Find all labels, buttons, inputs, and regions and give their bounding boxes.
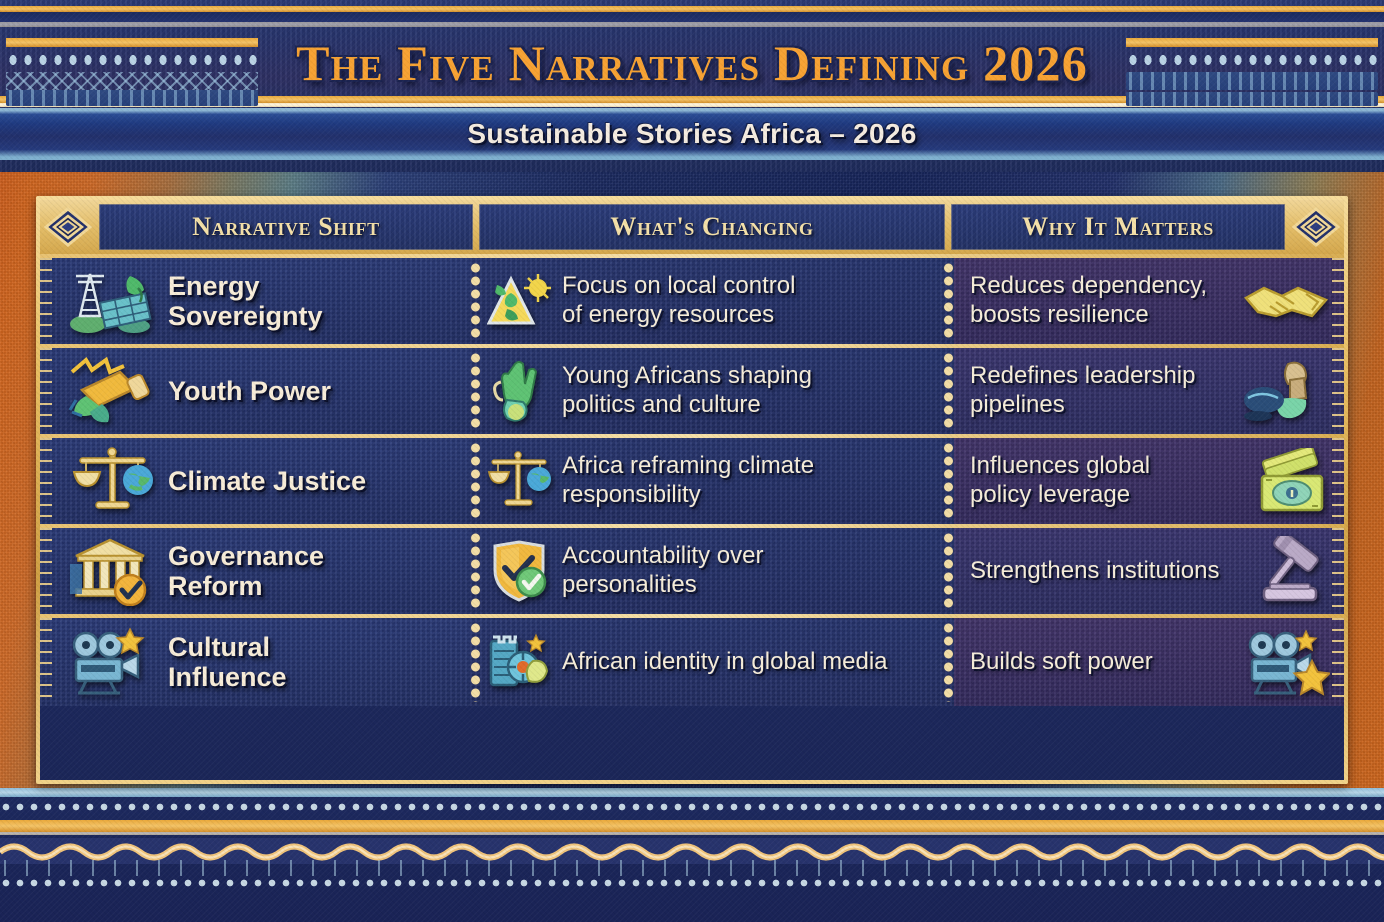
table-row: Cultural Influence [40, 614, 1344, 706]
column-divider [470, 442, 481, 520]
column-divider [943, 532, 954, 610]
column-header-narrative-shift: Narrative Shift [99, 204, 473, 250]
narrative-shift-label: Governance Reform [168, 541, 324, 601]
table-row: Youth Power [40, 344, 1344, 434]
institution-checkmark-icon [66, 534, 158, 608]
top-stripe-navy-1 [0, 12, 1384, 22]
row-zigzag-right [1332, 528, 1344, 614]
diamond-ornament-right-icon [1288, 204, 1344, 250]
infographic-poster: The Five Narratives Defining 2026 Sustai… [0, 0, 1384, 922]
row-zigzag-right [1332, 618, 1344, 706]
column-header-label: Narrative Shift [192, 212, 379, 242]
cell-narrative-shift: Energy Sovereignty [40, 258, 470, 344]
narrative-shift-label: Youth Power [168, 376, 331, 406]
subtitle-band: Sustainable Stories Africa – 2026 [0, 108, 1384, 160]
why-it-matters-label: Redefines leadership pipelines [970, 362, 1195, 420]
column-header-label: What's Changing [610, 212, 813, 242]
table-row: Governance Reform [40, 524, 1344, 614]
shield-check-icon [486, 540, 552, 602]
narrative-shift-label: Energy Sovereignty [168, 271, 323, 331]
film-camera-star-icon [1240, 628, 1332, 696]
cell-whats-changing: Africa reframing climate responsibility [470, 438, 954, 524]
whats-changing-label: African identity in global media [562, 648, 888, 677]
bottom-stripe-gold [0, 820, 1384, 832]
scales-globe-icon [66, 444, 158, 518]
whats-changing-label: Young Africans shaping politics and cult… [562, 362, 812, 420]
table-gold-frame: Narrative Shift What's Changing Why It M… [36, 196, 1348, 784]
column-divider [470, 352, 481, 430]
raised-fist-icon [1240, 357, 1332, 425]
column-header-why-it-matters: Why It Matters [951, 204, 1285, 250]
cell-why-it-matters: Redefines leadership pipelines [954, 348, 1344, 434]
column-header-label: Why It Matters [1022, 212, 1214, 242]
cell-why-it-matters: Influences global policy leverage [954, 438, 1344, 524]
row-zigzag-left [40, 258, 52, 344]
cell-whats-changing: Accountability over personalities [470, 528, 954, 614]
column-header-whats-changing: What's Changing [479, 204, 945, 250]
table-row: Climate Justice [40, 434, 1344, 524]
column-divider [470, 532, 481, 610]
bottom-stripe-cream [0, 832, 1384, 835]
table-body: Energy Sovereignty [40, 254, 1344, 706]
top-stripe-cream-1 [0, 22, 1384, 27]
cell-why-it-matters: Builds soft power [954, 618, 1344, 706]
banknotes-icon [1240, 447, 1332, 515]
bottom-dot-row-1 [0, 800, 1384, 814]
scales-globe-icon [486, 450, 552, 512]
page-title: The Five Narratives Defining 2026 [0, 34, 1384, 92]
row-zigzag-left [40, 528, 52, 614]
warning-triangle-sun-icon [486, 270, 552, 332]
bottom-decorative-band [0, 788, 1384, 922]
film-reel-star-icon [486, 631, 552, 693]
why-it-matters-label: Builds soft power [970, 648, 1153, 677]
whats-changing-label: Focus on local control of energy resourc… [562, 272, 795, 330]
row-zigzag-left [40, 348, 52, 434]
cell-why-it-matters: Reduces dependency, boosts resilience [954, 258, 1344, 344]
bottom-stripe-ltblue [0, 788, 1384, 797]
why-it-matters-label: Strengthens institutions [970, 557, 1219, 586]
cell-why-it-matters: Strengthens institutions [954, 528, 1344, 614]
why-it-matters-label: Influences global policy leverage [970, 452, 1150, 510]
cell-whats-changing: Focus on local control of energy resourc… [470, 258, 954, 344]
why-it-matters-label: Reduces dependency, boosts resilience [970, 272, 1207, 330]
cell-narrative-shift: Cultural Influence [40, 618, 470, 706]
raised-hands-icon [486, 360, 552, 422]
table-row: Energy Sovereignty [40, 254, 1344, 344]
column-divider [943, 262, 954, 340]
film-camera-star-icon [66, 625, 158, 699]
column-divider [470, 622, 481, 702]
narratives-table: Narrative Shift What's Changing Why It M… [36, 196, 1348, 784]
row-zigzag-right [1332, 438, 1344, 524]
bottom-triangle-row [0, 860, 1384, 876]
bottom-dot-row-2 [0, 876, 1384, 890]
row-zigzag-left [40, 618, 52, 706]
column-divider [943, 352, 954, 430]
gavel-icon [1240, 537, 1332, 605]
whats-changing-label: Accountability over personalities [562, 542, 763, 600]
column-divider [943, 622, 954, 702]
cell-whats-changing: Young Africans shaping politics and cult… [470, 348, 954, 434]
narrative-shift-label: Climate Justice [168, 466, 366, 496]
cell-narrative-shift: Governance Reform [40, 528, 470, 614]
column-divider [943, 442, 954, 520]
row-zigzag-right [1332, 258, 1344, 344]
diamond-ornament-left-icon [40, 204, 96, 250]
table-header-row: Narrative Shift What's Changing Why It M… [40, 200, 1344, 254]
power-pylon-solar-panel-icon [66, 264, 158, 338]
whats-changing-label: Africa reframing climate responsibility [562, 452, 814, 510]
cell-narrative-shift: Youth Power [40, 348, 470, 434]
row-zigzag-right [1332, 348, 1344, 434]
megaphone-icon [66, 354, 158, 428]
page-subtitle: Sustainable Stories Africa – 2026 [467, 118, 916, 150]
narrative-shift-label: Cultural Influence [168, 632, 287, 692]
handshake-icon [1240, 267, 1332, 335]
cell-whats-changing: African identity in global media [470, 618, 954, 706]
column-divider [470, 262, 481, 340]
row-zigzag-left [40, 438, 52, 524]
cell-narrative-shift: Climate Justice [40, 438, 470, 524]
